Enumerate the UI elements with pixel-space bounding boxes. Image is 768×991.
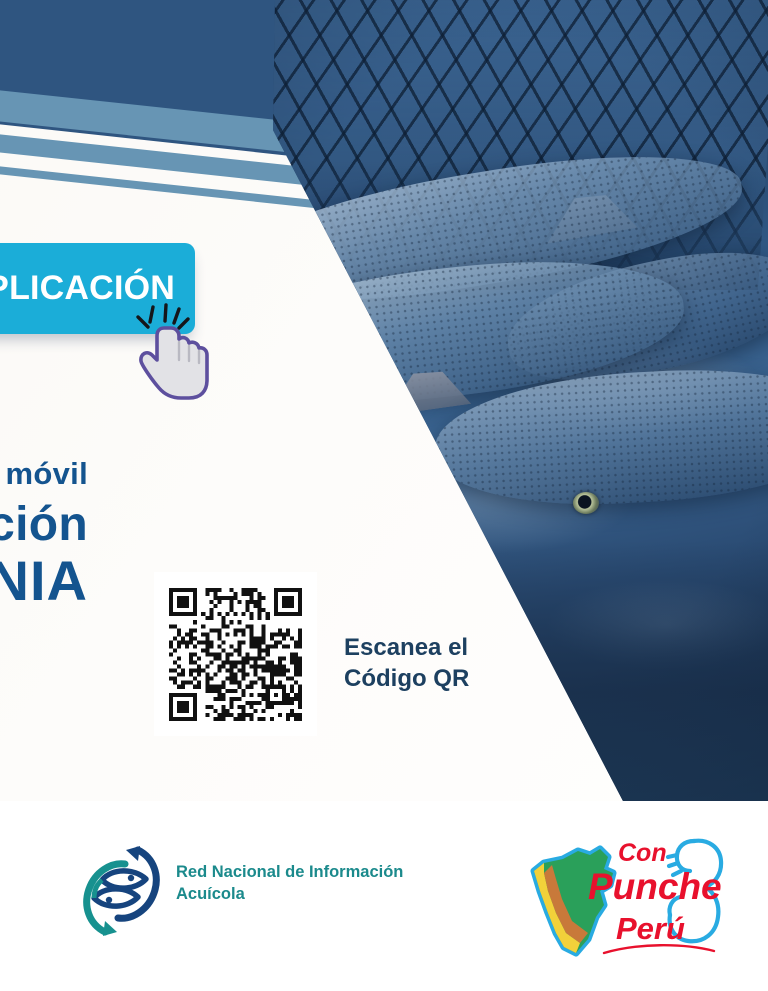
qr-code[interactable] xyxy=(154,572,317,736)
punche-line-3: Perú xyxy=(616,911,685,946)
rnia-name: Red Nacional de Información Acuícola xyxy=(176,861,403,906)
photo-vignette xyxy=(255,0,768,801)
headline-line-1: Aplicación móvil xyxy=(0,458,88,489)
qr-code-image xyxy=(169,588,302,721)
poster-card: DESCARGA LA APLICACIÓN Aplicación móvil … xyxy=(0,0,768,801)
fish-fin-icon xyxy=(255,260,296,309)
fish-photo xyxy=(255,0,768,801)
punche-line-2: Punche xyxy=(588,866,722,907)
poster-footer: Red Nacional de Información Acuícola Con… xyxy=(0,801,768,991)
two-fish-circle-logo-icon xyxy=(78,836,164,946)
qr-caption: Escanea el Código QR xyxy=(344,633,469,694)
punche-line-1: Con xyxy=(618,839,667,867)
click-hand-cursor-icon xyxy=(128,303,220,403)
con-punche-peru-logo-icon: Con Punche Perú xyxy=(518,821,740,971)
headline-line-2: Información xyxy=(0,501,88,549)
headline-line-3: RNIA xyxy=(0,553,88,609)
poster-headline: Aplicación móvil Información RNIA xyxy=(0,458,88,609)
